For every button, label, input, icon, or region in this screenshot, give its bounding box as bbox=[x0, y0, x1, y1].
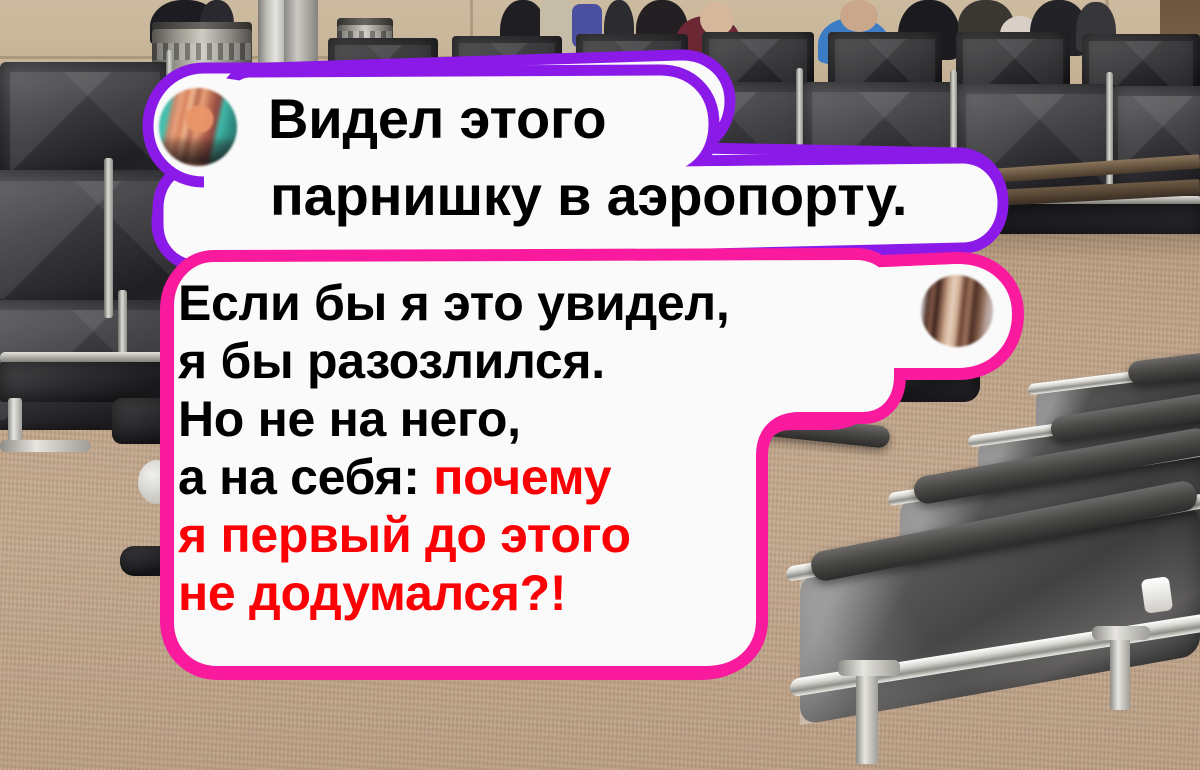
bubble-1-line-1: Видел этого bbox=[268, 89, 606, 149]
bubble-2-line-4: а на себя: почему bbox=[178, 448, 730, 506]
bubble-2-line-1: Если бы я это увидел, bbox=[178, 274, 730, 332]
speech-bubbles-layer: Видел этого парнишку в аэропорту. Если б… bbox=[0, 0, 1200, 770]
bubble-2-line-3: Но не на него, bbox=[178, 390, 730, 448]
bubble-text-layer: Видел этого парнишку в аэропорту. Если б… bbox=[0, 0, 1200, 770]
meme-image: Видел этого парнишку в аэропорту. Если б… bbox=[0, 0, 1200, 770]
bubble-1-line-2: парнишку в аэропорту. bbox=[270, 166, 907, 226]
bubble-2-line-4-red: почему bbox=[433, 449, 611, 505]
bubble-2-line-4-black: а на себя: bbox=[178, 449, 433, 505]
bubble-2-line-6: не додумался?! bbox=[178, 564, 730, 622]
bubble-2-line-2: я бы разозлился. bbox=[178, 332, 730, 390]
bubble-2-line-5: я первый до этого bbox=[178, 506, 730, 564]
bubble-2-text: Если бы я это увидел, я бы разозлился. Н… bbox=[178, 274, 730, 622]
